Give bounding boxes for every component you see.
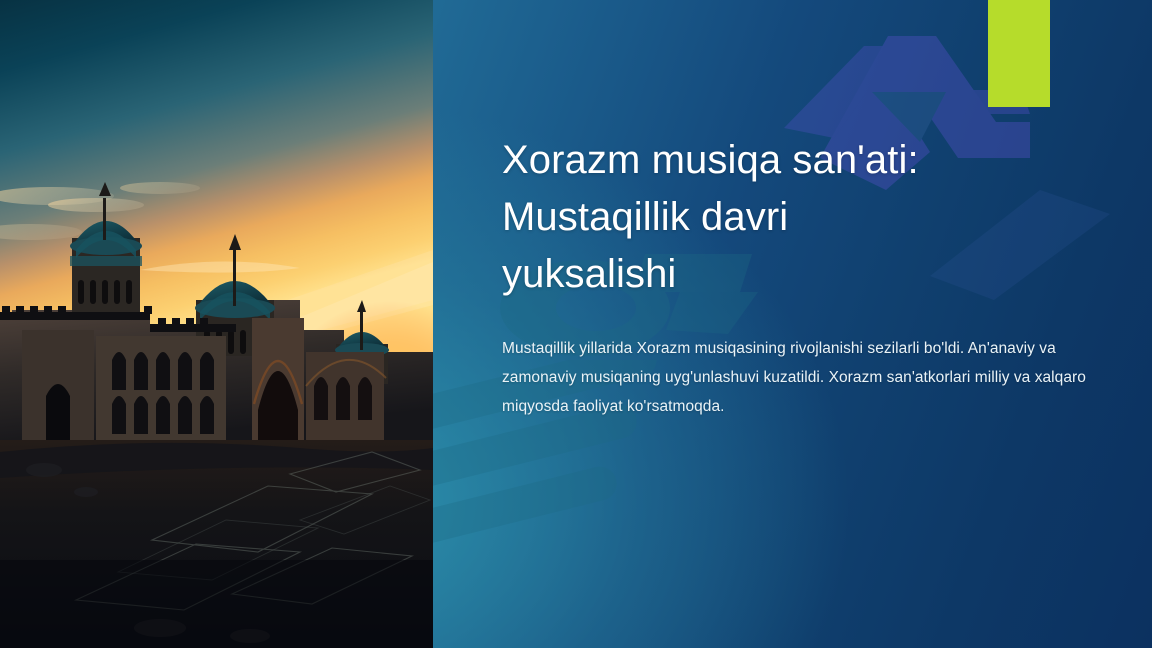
- green-accent-bar: [988, 0, 1050, 107]
- page-title: Xorazm musiqa san'ati: Mustaqillik davri…: [502, 132, 1092, 303]
- slide-image-mosque-sunset: [0, 0, 433, 648]
- presentation-slide: Xorazm musiqa san'ati: Mustaqillik davri…: [0, 0, 1152, 648]
- slide-body-paragraph: Mustaqillik yillarida Xorazm musiqasinin…: [502, 334, 1088, 421]
- slide-text-content: Xorazm musiqa san'ati: Mustaqillik davri…: [502, 132, 1092, 421]
